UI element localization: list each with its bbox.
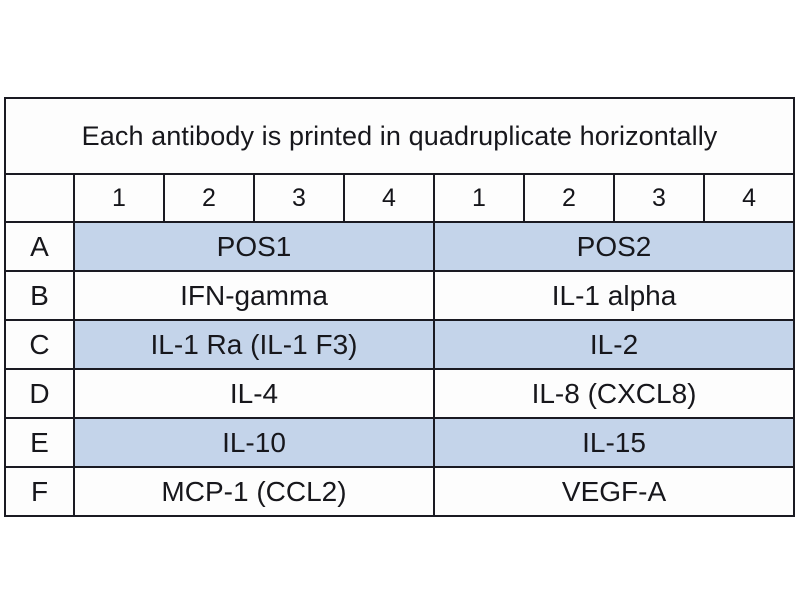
analyte-cell-c-right: IL-2	[434, 320, 794, 369]
column-header-row: 1 2 3 4 1 2 3 4	[5, 174, 794, 222]
analyte-cell-f-left: MCP-1 (CCL2)	[74, 467, 434, 516]
analyte-cell-d-left: IL-4	[74, 369, 434, 418]
corner-cell	[5, 174, 74, 222]
analyte-cell-d-right: IL-8 (CXCL8)	[434, 369, 794, 418]
row-label-e: E	[5, 418, 74, 467]
analyte-cell-a-right: POS2	[434, 222, 794, 271]
table-row: D IL-4 IL-8 (CXCL8)	[5, 369, 794, 418]
column-header-left-3: 3	[254, 174, 344, 222]
row-label-d: D	[5, 369, 74, 418]
analyte-cell-b-right: IL-1 alpha	[434, 271, 794, 320]
row-label-c: C	[5, 320, 74, 369]
column-header-right-4: 4	[704, 174, 794, 222]
analyte-cell-b-left: IFN-gamma	[74, 271, 434, 320]
column-header-left-4: 4	[344, 174, 434, 222]
analyte-cell-e-left: IL-10	[74, 418, 434, 467]
analyte-cell-c-left: IL-1 Ra (IL-1 F3)	[74, 320, 434, 369]
table-row: A POS1 POS2	[5, 222, 794, 271]
analyte-cell-e-right: IL-15	[434, 418, 794, 467]
antibody-array-map-figure: Each antibody is printed in quadruplicat…	[4, 97, 795, 507]
table-row: C IL-1 Ra (IL-1 F3) IL-2	[5, 320, 794, 369]
table-row: E IL-10 IL-15	[5, 418, 794, 467]
row-label-b: B	[5, 271, 74, 320]
row-label-a: A	[5, 222, 74, 271]
table-row: F MCP-1 (CCL2) VEGF-A	[5, 467, 794, 516]
antibody-array-table: Each antibody is printed in quadruplicat…	[4, 97, 795, 517]
column-header-right-3: 3	[614, 174, 704, 222]
figure-title: Each antibody is printed in quadruplicat…	[5, 98, 794, 174]
row-label-f: F	[5, 467, 74, 516]
analyte-cell-f-right: VEGF-A	[434, 467, 794, 516]
title-row: Each antibody is printed in quadruplicat…	[5, 98, 794, 174]
table-row: B IFN-gamma IL-1 alpha	[5, 271, 794, 320]
column-header-left-2: 2	[164, 174, 254, 222]
column-header-right-2: 2	[524, 174, 614, 222]
column-header-left-1: 1	[74, 174, 164, 222]
column-header-right-1: 1	[434, 174, 524, 222]
analyte-cell-a-left: POS1	[74, 222, 434, 271]
